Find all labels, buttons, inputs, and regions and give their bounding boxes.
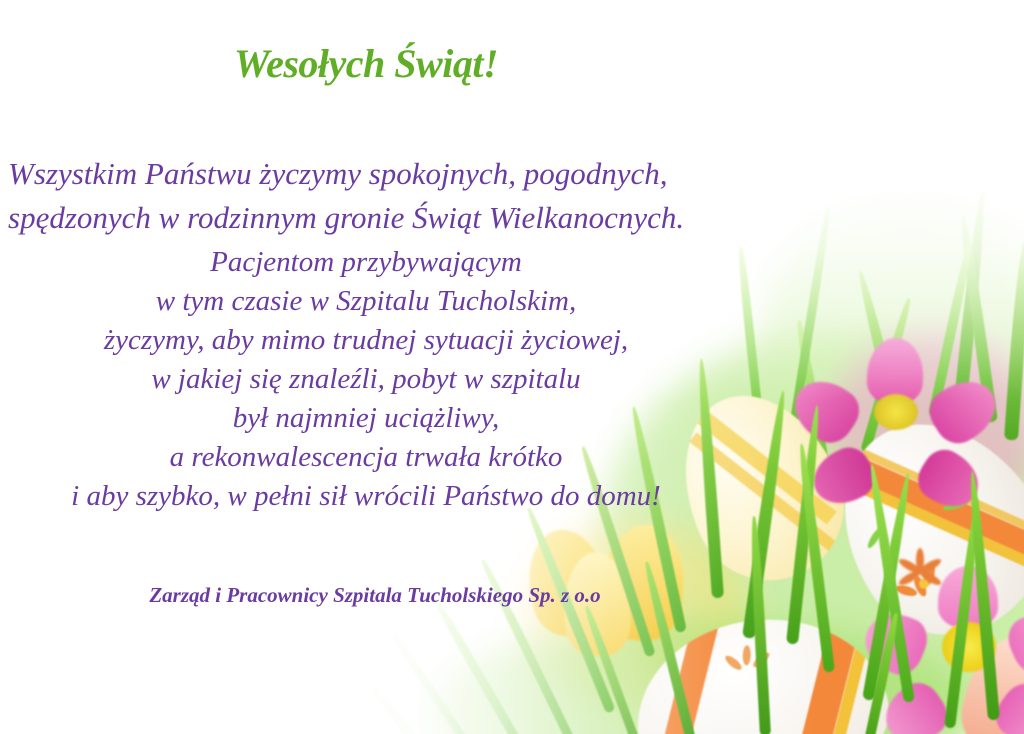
- greeting-body-line: w tym czasie w Szpitalu Tucholskim,: [0, 282, 732, 321]
- easter-greeting-card: Wesołych Świąt! Wszystkim Państwu życzym…: [0, 0, 1024, 734]
- signature-line: Zarząd i Pracownicy Szpitala Tucholskieg…: [0, 583, 750, 608]
- greeting-body-line: życzymy, aby mimo trudnej sytuacji życio…: [0, 321, 732, 360]
- greeting-body-line: Pacjentom przybywającym: [0, 243, 732, 282]
- greeting-intro-line: Wszystkim Państwu życzymy spokojnych, po…: [8, 152, 748, 196]
- greeting-text-layer: Wesołych Świąt! Wszystkim Państwu życzym…: [0, 0, 1024, 734]
- greeting-body-line: był najmniej uciążliwy,: [0, 399, 732, 438]
- greeting-body-line: w jakiej się znaleźli, pobyt w szpitalu: [0, 360, 732, 399]
- greeting-body-line: i aby szybko, w pełni sił wrócili Państw…: [0, 477, 732, 516]
- greeting-intro-paragraph: Wszystkim Państwu życzymy spokojnych, po…: [8, 152, 748, 240]
- greeting-body-line: a rekonwalescencja trwała krótko: [0, 438, 732, 477]
- greeting-intro-line: spędzonych w rodzinnym gronie Świąt Wiel…: [8, 196, 748, 240]
- greeting-body-paragraph: Pacjentom przybywającym w tym czasie w S…: [0, 243, 732, 516]
- page-title: Wesołych Świąt!: [234, 40, 498, 87]
